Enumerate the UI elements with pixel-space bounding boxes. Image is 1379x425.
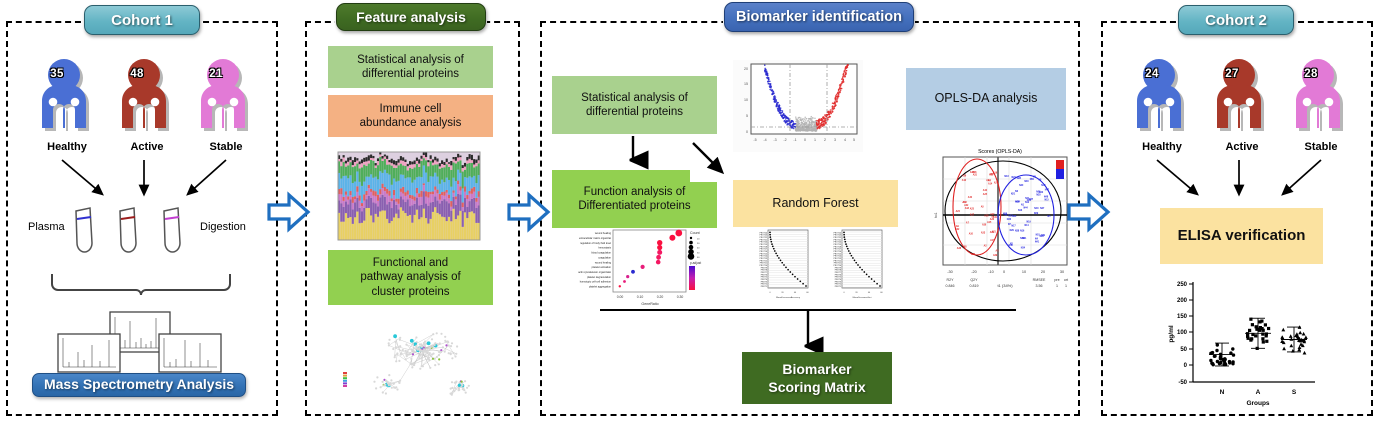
svg-text:0.819: 0.819 bbox=[970, 284, 979, 288]
label-healthy-c1: Healthy bbox=[27, 141, 107, 153]
box-statistical-analysis-fa-line2: differential proteins bbox=[362, 67, 459, 81]
mass-spectrometry-bar: Mass Spectrometry Analysis bbox=[32, 373, 246, 397]
svg-text:PROT21: PROT21 bbox=[834, 239, 841, 241]
svg-text:A35: A35 bbox=[984, 215, 989, 218]
svg-text:PROT2: PROT2 bbox=[761, 284, 767, 286]
svg-text:20: 20 bbox=[744, 67, 748, 71]
svg-text:pg/ml: pg/ml bbox=[1168, 325, 1175, 343]
svg-text:10: 10 bbox=[1022, 270, 1026, 274]
svg-text:A21: A21 bbox=[992, 231, 997, 234]
svg-text:N17: N17 bbox=[1011, 226, 1016, 228]
svg-text:-50: -50 bbox=[1178, 380, 1187, 386]
box-statistical-analysis-fa-line1: Statistical analysis of bbox=[357, 53, 464, 67]
svg-text:30: 30 bbox=[1060, 270, 1064, 274]
svg-text:1: 1 bbox=[814, 138, 816, 142]
svg-text:PROT18: PROT18 bbox=[760, 246, 767, 248]
svg-text:N27: N27 bbox=[1040, 208, 1045, 210]
svg-text:PROT11: PROT11 bbox=[834, 263, 841, 265]
box-stat-bm-line2: differential proteins bbox=[586, 105, 683, 119]
svg-text:N15: N15 bbox=[1044, 199, 1049, 201]
svg-text:N20: N20 bbox=[1019, 185, 1024, 187]
label-stable-c2: Stable bbox=[1281, 141, 1361, 153]
svg-text:0.20: 0.20 bbox=[657, 295, 664, 299]
svg-text:PROT12: PROT12 bbox=[760, 260, 767, 262]
svg-text:N52: N52 bbox=[1036, 191, 1041, 193]
svg-text:-2: -2 bbox=[783, 138, 786, 142]
svg-text:0: 0 bbox=[804, 138, 806, 142]
box-functional-line2: pathway analysis of bbox=[360, 270, 460, 284]
svg-text:-1: -1 bbox=[793, 138, 796, 142]
svg-text:A34: A34 bbox=[971, 253, 976, 256]
svg-text:p.adjust: p.adjust bbox=[690, 261, 701, 265]
svg-text:N43: N43 bbox=[1004, 175, 1009, 178]
box-statistical-analysis-bm: Statistical analysis of differential pro… bbox=[552, 76, 717, 134]
svg-text:1: 1 bbox=[1056, 284, 1058, 288]
svg-text:0.30: 0.30 bbox=[677, 295, 684, 299]
panel-title-cohort2: Cohort 2 bbox=[1178, 5, 1294, 35]
svg-text:coagulation: coagulation bbox=[598, 256, 611, 259]
panel-title-biomarker: Biomarker identification bbox=[724, 2, 914, 32]
svg-text:A19: A19 bbox=[993, 172, 998, 175]
count-active-c2: 27 bbox=[1219, 68, 1245, 80]
svg-text:PROT20: PROT20 bbox=[760, 242, 767, 244]
svg-text:blood coagulation: blood coagulation bbox=[591, 252, 611, 255]
panel-title-feature-analysis: Feature analysis bbox=[336, 3, 486, 31]
svg-text:5: 5 bbox=[746, 114, 748, 118]
svg-text:PROT8: PROT8 bbox=[835, 270, 841, 272]
svg-text:A10: A10 bbox=[969, 233, 974, 236]
box-biomarker-scoring-matrix: Biomarker Scoring Matrix bbox=[742, 352, 892, 404]
opls-da-scores-plot: Scores (OPLS-DA) A1A2A3A4A5A6A7A8A9A10A1… bbox=[925, 145, 1075, 293]
svg-text:N40: N40 bbox=[1034, 207, 1039, 210]
svg-text:N28: N28 bbox=[1017, 178, 1022, 180]
box-elisa-verification: ELISA verification bbox=[1160, 208, 1323, 264]
protein-network-graph bbox=[333, 316, 495, 404]
svg-text:RMSEE: RMSEE bbox=[1033, 278, 1046, 282]
svg-text:4: 4 bbox=[844, 138, 846, 142]
svg-text:N50: N50 bbox=[1030, 179, 1035, 181]
svg-text:PROT22: PROT22 bbox=[834, 237, 841, 239]
svg-text:N12: N12 bbox=[1025, 202, 1030, 204]
svg-text:regulation of body fluid level: regulation of body fluid level bbox=[580, 242, 611, 245]
svg-text:N33: N33 bbox=[1007, 219, 1012, 221]
svg-text:2: 2 bbox=[824, 138, 826, 142]
svg-text:PROT3: PROT3 bbox=[761, 281, 767, 283]
box-random-forest: Random Forest bbox=[733, 180, 898, 227]
svg-text:PROT1: PROT1 bbox=[835, 286, 841, 288]
svg-text:A38: A38 bbox=[957, 247, 962, 250]
svg-text:PROT5: PROT5 bbox=[761, 277, 767, 279]
count-stable-c1: 21 bbox=[203, 68, 229, 80]
scoring-matrix-line1: Biomarker bbox=[782, 360, 851, 378]
go-enrichment-dotplot: wound healingextracellular matrix organi… bbox=[550, 228, 706, 310]
box-stat-bm-line1: Statistical analysis of bbox=[581, 91, 688, 105]
svg-text:N36: N36 bbox=[1020, 238, 1025, 240]
svg-text:PROT12: PROT12 bbox=[834, 260, 841, 262]
count-healthy-c2: 24 bbox=[1139, 68, 1165, 80]
svg-text:A43: A43 bbox=[962, 201, 967, 204]
svg-text:PROT10: PROT10 bbox=[760, 265, 767, 267]
label-stable-c1: Stable bbox=[186, 141, 266, 153]
cohort2-arrows bbox=[1135, 156, 1345, 206]
svg-text:-4: -4 bbox=[763, 138, 766, 142]
svg-text:PROT11: PROT11 bbox=[760, 263, 767, 265]
svg-text:wound healing: wound healing bbox=[595, 232, 612, 235]
arrow-stat-to-function bbox=[626, 136, 640, 170]
svg-text:PROT9: PROT9 bbox=[835, 267, 841, 269]
svg-text:PROT6: PROT6 bbox=[835, 274, 841, 276]
count-active-c1: 48 bbox=[124, 68, 150, 80]
svg-text:40: 40 bbox=[794, 292, 797, 294]
svg-text:N30: N30 bbox=[1024, 181, 1029, 183]
svg-text:A33: A33 bbox=[981, 231, 986, 234]
svg-text:60: 60 bbox=[806, 292, 809, 294]
svg-text:0: 0 bbox=[1003, 270, 1005, 274]
svg-text:PROT24: PROT24 bbox=[834, 232, 841, 234]
svg-text:250: 250 bbox=[1177, 282, 1188, 288]
svg-text:platelet degranulation: platelet degranulation bbox=[587, 276, 612, 279]
svg-text:hemostasis: hemostasis bbox=[598, 247, 611, 250]
svg-text:N44: N44 bbox=[1023, 207, 1028, 210]
count-stable-c2: 28 bbox=[1298, 68, 1324, 80]
svg-text:Q2Y: Q2Y bbox=[970, 278, 978, 282]
svg-text:PROT4: PROT4 bbox=[761, 279, 767, 281]
svg-text:A42: A42 bbox=[983, 189, 988, 192]
svg-text:PROT24: PROT24 bbox=[760, 232, 767, 234]
label-active-c2: Active bbox=[1202, 141, 1282, 153]
svg-text:to1: to1 bbox=[934, 212, 938, 217]
svg-text:ort: ort bbox=[1064, 278, 1068, 282]
svg-text:5: 5 bbox=[853, 138, 855, 142]
svg-text:PROT6: PROT6 bbox=[761, 274, 767, 276]
svg-text:-3: -3 bbox=[773, 138, 776, 142]
svg-text:actin cytoskeleton organizatio: actin cytoskeleton organizatio bbox=[578, 271, 611, 274]
svg-text:N19: N19 bbox=[1026, 222, 1031, 224]
svg-text:PROT17: PROT17 bbox=[760, 249, 767, 251]
svg-text:100: 100 bbox=[1177, 330, 1188, 336]
svg-text:extracellular matrix organizat: extracellular matrix organizat bbox=[579, 237, 611, 240]
volcano-plot: -5-4-3 -2-10 123 45 0510 1520 bbox=[733, 60, 863, 152]
label-healthy-c2: Healthy bbox=[1122, 141, 1202, 153]
svg-text:A27: A27 bbox=[989, 173, 994, 176]
svg-text:N49: N49 bbox=[1041, 234, 1046, 237]
svg-text:A17: A17 bbox=[990, 213, 995, 216]
vial-label-digestion: Digestion bbox=[200, 221, 246, 233]
svg-text:PROT4: PROT4 bbox=[835, 279, 841, 281]
svg-text:N39: N39 bbox=[1034, 213, 1039, 215]
svg-text:N18: N18 bbox=[1041, 185, 1046, 187]
svg-text:-5: -5 bbox=[753, 138, 756, 142]
svg-text:PROT15: PROT15 bbox=[760, 253, 767, 255]
svg-text:PROT9: PROT9 bbox=[761, 267, 767, 269]
svg-text:-10: -10 bbox=[988, 270, 994, 274]
box-functional-line3: cluster proteins bbox=[372, 285, 450, 299]
svg-text:60: 60 bbox=[880, 292, 883, 294]
svg-text:platelet aggregation: platelet aggregation bbox=[589, 286, 612, 289]
svg-text:A36: A36 bbox=[962, 175, 967, 178]
svg-text:N16: N16 bbox=[1020, 230, 1025, 232]
svg-text:3.56: 3.56 bbox=[1036, 284, 1043, 288]
svg-text:Groups: Groups bbox=[1246, 400, 1269, 407]
svg-text:200: 200 bbox=[1177, 298, 1188, 304]
svg-text:t1 (34%): t1 (34%) bbox=[997, 283, 1013, 288]
svg-text:A15: A15 bbox=[987, 221, 992, 224]
svg-text:N25: N25 bbox=[1003, 214, 1008, 216]
svg-text:0: 0 bbox=[843, 292, 845, 294]
biomarker-junction-connector bbox=[598, 308, 1018, 356]
svg-text:A22: A22 bbox=[955, 228, 960, 231]
svg-text:PROT19: PROT19 bbox=[760, 244, 767, 246]
svg-text:A41: A41 bbox=[993, 216, 998, 219]
svg-text:PROT16: PROT16 bbox=[834, 251, 841, 253]
opls-plot-title: Scores (OPLS-DA) bbox=[978, 149, 1022, 155]
svg-text:S: S bbox=[1292, 389, 1297, 396]
svg-text:0.10: 0.10 bbox=[637, 295, 644, 299]
box-immune-cell-line2: abundance analysis bbox=[360, 116, 462, 130]
svg-text:PROT15: PROT15 bbox=[834, 253, 841, 255]
svg-text:A23: A23 bbox=[970, 208, 975, 211]
svg-text:A13: A13 bbox=[986, 179, 991, 182]
box-func-bm-line1: Function analysis of bbox=[584, 185, 686, 199]
box-opls-da-analysis: OPLS-DA analysis bbox=[906, 68, 1066, 130]
svg-text:PROT21: PROT21 bbox=[760, 239, 767, 241]
svg-text:150: 150 bbox=[1177, 314, 1188, 320]
svg-text:PROT19: PROT19 bbox=[834, 244, 841, 246]
svg-text:N10: N10 bbox=[1012, 216, 1017, 218]
box-immune-cell-abundance: Immune cell abundance analysis bbox=[328, 95, 493, 137]
svg-text:50: 50 bbox=[1180, 347, 1187, 353]
svg-text:A32: A32 bbox=[964, 204, 969, 207]
scoring-matrix-line2: Scoring Matrix bbox=[768, 378, 865, 396]
svg-text:N46: N46 bbox=[1015, 200, 1020, 203]
vials-cohort1 bbox=[70, 207, 210, 263]
svg-text:A31: A31 bbox=[973, 174, 978, 177]
svg-text:MeanDecreaseAccuracy: MeanDecreaseAccuracy bbox=[776, 296, 801, 299]
svg-text:PROT13: PROT13 bbox=[760, 258, 767, 260]
svg-text:N34: N34 bbox=[1021, 247, 1026, 250]
svg-text:A29: A29 bbox=[994, 181, 999, 184]
svg-text:A40: A40 bbox=[968, 196, 973, 199]
svg-text:PROT22: PROT22 bbox=[760, 237, 767, 239]
connector-arrow-2 bbox=[508, 193, 550, 231]
connector-arrow-3 bbox=[1068, 193, 1110, 231]
svg-text:A14: A14 bbox=[988, 182, 993, 185]
svg-text:A25: A25 bbox=[983, 193, 988, 196]
svg-text:A39: A39 bbox=[993, 254, 998, 257]
svg-text:PROT23: PROT23 bbox=[834, 235, 841, 237]
svg-text:PROT8: PROT8 bbox=[761, 270, 767, 272]
svg-text:platelet activation: platelet activation bbox=[592, 266, 612, 269]
svg-text:PROT7: PROT7 bbox=[761, 272, 767, 274]
svg-text:A30: A30 bbox=[982, 224, 987, 227]
elisa-scatter-plot: 250200150 100500 -50 pg/ml NAS Groups bbox=[1155, 272, 1325, 412]
svg-text:N38: N38 bbox=[1015, 231, 1020, 233]
svg-text:A16: A16 bbox=[962, 179, 967, 182]
svg-text:PROT17: PROT17 bbox=[834, 249, 841, 251]
box-functional-pathway-analysis: Functional and pathway analysis of clust… bbox=[328, 250, 493, 305]
rf-importance-plots: PROT1PROT2PROT3PROT4PROT5PROT6PROT7PROT8… bbox=[742, 228, 884, 304]
svg-text:PROT16: PROT16 bbox=[760, 251, 767, 253]
cohort1-arrows bbox=[40, 156, 250, 206]
svg-text:A11: A11 bbox=[990, 239, 995, 242]
svg-text:A24: A24 bbox=[956, 210, 961, 213]
svg-text:N51: N51 bbox=[1036, 235, 1041, 237]
panel-title-cohort1: Cohort 1 bbox=[84, 5, 200, 35]
svg-text:A37: A37 bbox=[970, 214, 975, 217]
svg-text:pre: pre bbox=[1054, 278, 1059, 282]
count-healthy-c1: 35 bbox=[44, 68, 70, 80]
svg-text:PROT14: PROT14 bbox=[834, 256, 841, 258]
svg-text:N13: N13 bbox=[1018, 210, 1023, 212]
svg-text:N29: N29 bbox=[1010, 230, 1015, 232]
svg-text:N21: N21 bbox=[1011, 193, 1016, 195]
svg-text:0: 0 bbox=[1184, 363, 1188, 369]
mass-spectra-thumbnails bbox=[48, 312, 233, 370]
svg-text:A44: A44 bbox=[970, 171, 975, 174]
connector-arrow-1 bbox=[268, 193, 310, 231]
svg-text:PROT13: PROT13 bbox=[834, 258, 841, 260]
svg-text:PROT10: PROT10 bbox=[834, 265, 841, 267]
svg-text:PROT2: PROT2 bbox=[835, 284, 841, 286]
svg-text:wound healing: wound healing bbox=[595, 261, 612, 264]
svg-text:N47: N47 bbox=[1045, 189, 1050, 192]
svg-text:-30: -30 bbox=[947, 270, 953, 274]
svg-text:A: A bbox=[1256, 389, 1261, 396]
svg-text:PROT1: PROT1 bbox=[761, 286, 767, 288]
svg-text:N23: N23 bbox=[1011, 177, 1016, 179]
svg-text:3: 3 bbox=[834, 138, 836, 142]
svg-text:PROT23: PROT23 bbox=[760, 235, 767, 237]
svg-text:N32: N32 bbox=[1008, 215, 1013, 217]
label-active-c1: Active bbox=[107, 141, 187, 153]
svg-text:N: N bbox=[1220, 389, 1225, 396]
svg-text:N14: N14 bbox=[1024, 224, 1029, 227]
svg-text:MeanDecreaseGini: MeanDecreaseGini bbox=[853, 296, 872, 299]
svg-text:PROT7: PROT7 bbox=[835, 272, 841, 274]
immune-stacked-bar-chart bbox=[338, 152, 480, 240]
svg-text:Count: Count bbox=[690, 231, 700, 235]
svg-text:N41: N41 bbox=[1035, 241, 1040, 244]
svg-text:PROT3: PROT3 bbox=[835, 281, 841, 283]
svg-text:0.846: 0.846 bbox=[946, 284, 955, 288]
box-immune-cell-line1: Immune cell bbox=[380, 102, 442, 116]
arrow-volcano-to-randomforest bbox=[690, 140, 732, 182]
svg-text:PROT20: PROT20 bbox=[834, 242, 841, 244]
svg-text:20: 20 bbox=[1041, 270, 1045, 274]
svg-text:PROT18: PROT18 bbox=[834, 246, 841, 248]
vial-label-plasma: Plasma bbox=[28, 221, 65, 233]
svg-text:0: 0 bbox=[769, 292, 771, 294]
box-func-bm-line2: Differentiated proteins bbox=[578, 199, 690, 213]
svg-text:20: 20 bbox=[855, 292, 858, 294]
svg-text:N48: N48 bbox=[1044, 196, 1049, 199]
box-statistical-analysis-fa: Statistical analysis of differential pro… bbox=[328, 46, 493, 88]
svg-text:N45: N45 bbox=[1009, 244, 1014, 247]
svg-text:0: 0 bbox=[746, 130, 748, 134]
svg-text:PROT14: PROT14 bbox=[760, 256, 767, 258]
svg-text:PROT5: PROT5 bbox=[835, 277, 841, 279]
svg-text:10: 10 bbox=[744, 98, 748, 102]
svg-text:40: 40 bbox=[868, 292, 871, 294]
svg-text:homotypic cell-cell adhesion: homotypic cell-cell adhesion bbox=[580, 281, 612, 284]
svg-text:GeneRatio: GeneRatio bbox=[641, 302, 658, 306]
svg-text:-20: -20 bbox=[971, 270, 977, 274]
brace-cohort1 bbox=[50, 272, 240, 302]
svg-text:N37: N37 bbox=[1029, 199, 1034, 201]
box-functional-line1: Functional and bbox=[373, 256, 448, 270]
svg-text:R2Y: R2Y bbox=[947, 278, 955, 282]
svg-text:15: 15 bbox=[744, 82, 748, 86]
svg-text:20: 20 bbox=[781, 292, 784, 294]
svg-text:N35: N35 bbox=[1036, 195, 1041, 197]
svg-text:1: 1 bbox=[1065, 284, 1067, 288]
svg-text:0.00: 0.00 bbox=[617, 295, 624, 299]
